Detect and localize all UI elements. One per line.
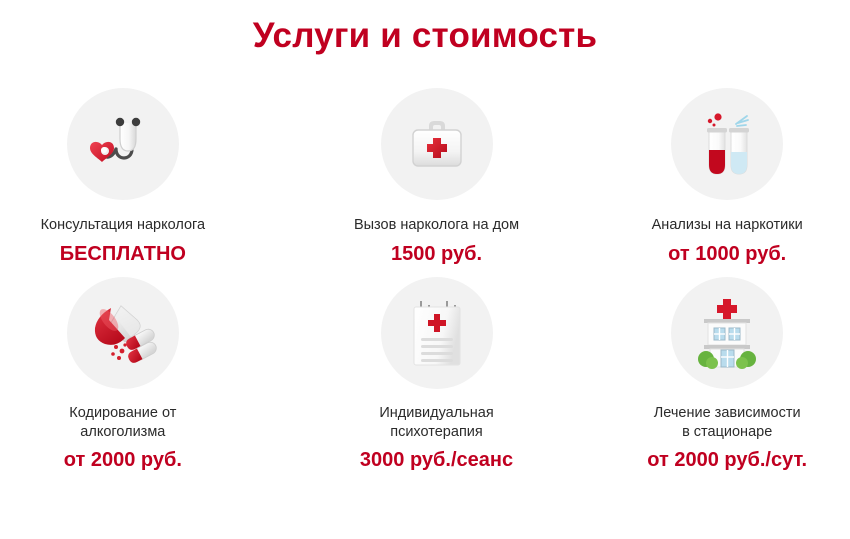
service-card-coding[interactable]: Кодирование от алкоголизма от 2000 руб.	[0, 277, 300, 472]
capsule-pills-icon	[85, 298, 161, 368]
service-label: Индивидуальная психотерапия	[379, 404, 493, 442]
service-card-psychotherapy[interactable]: Индивидуальная психотерапия 3000 руб./се…	[300, 277, 560, 472]
services-pricing-page: Услуги и стоимость	[0, 0, 850, 539]
service-price: 3000 руб./сеанс	[360, 448, 513, 472]
services-grid: Консультация нарколога БЕСПЛАТНО	[0, 88, 850, 472]
stethoscope-heart-icon	[86, 107, 160, 181]
service-label: Вызов нарколога на дом	[354, 216, 519, 235]
service-label: Кодирование от алкоголизма	[69, 404, 176, 442]
icon-disc	[67, 277, 179, 389]
test-tubes-icon	[693, 108, 761, 180]
service-card-home-visit[interactable]: Вызов нарколога на дом 1500 руб.	[300, 88, 560, 266]
service-label: Консультация нарколога	[41, 216, 206, 235]
hospital-building-icon	[688, 297, 766, 369]
service-card-consultation[interactable]: Консультация нарколога БЕСПЛАТНО	[0, 88, 300, 266]
icon-disc	[671, 88, 783, 200]
services-row: Кодирование от алкоголизма от 2000 руб.	[0, 277, 850, 472]
service-label: Лечение зависимости в стационаре	[654, 404, 801, 442]
service-label: Анализы на наркотики	[652, 216, 803, 235]
service-price: от 1000 руб.	[668, 242, 786, 266]
icon-disc	[381, 88, 493, 200]
icon-disc	[381, 277, 493, 389]
icon-disc	[67, 88, 179, 200]
service-card-inpatient[interactable]: Лечение зависимости в стационаре от 2000…	[559, 277, 850, 472]
icon-disc	[671, 277, 783, 389]
service-price: 1500 руб.	[391, 242, 482, 266]
services-row: Консультация нарколога БЕСПЛАТНО	[0, 88, 850, 266]
service-price: от 2000 руб.	[64, 448, 182, 472]
first-aid-kit-icon	[401, 108, 473, 180]
service-price: БЕСПЛАТНО	[60, 242, 186, 266]
service-price: от 2000 руб./сут.	[647, 448, 807, 472]
page-title: Услуги и стоимость	[0, 14, 850, 58]
medical-chart-icon	[404, 295, 470, 371]
service-card-drug-tests[interactable]: Анализы на наркотики от 1000 руб.	[559, 88, 850, 266]
